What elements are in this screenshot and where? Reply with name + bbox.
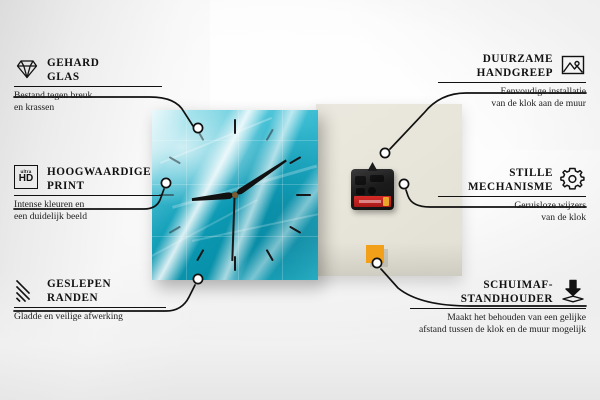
feature-subtitle: Geruisloze wijzers van de klok <box>438 200 586 223</box>
feature-header: GESLEPEN RANDEN <box>14 277 174 305</box>
feature-title: GEHARD GLAS <box>47 56 99 84</box>
feature-divider <box>14 195 162 196</box>
beveled-edges-icon <box>14 277 40 303</box>
product-infographic: GEHARD GLAS Bestand tegen breuk en krass… <box>0 0 600 400</box>
feature-hoogwaardige-print: ultra HD HOOGWAARDIGE PRINT Intense kleu… <box>14 165 164 222</box>
clock-battery <box>354 196 391 207</box>
clock-movement[interactable] <box>351 169 394 210</box>
feature-title: DUURZAME HANDGREEP <box>477 52 553 80</box>
feature-duurzame-handgreep: DUURZAME HANDGREEP Eenvoudige installati… <box>438 52 586 109</box>
feature-subtitle: Bestand tegen breuk en krassen <box>14 90 164 113</box>
feature-divider <box>438 196 586 197</box>
movement-detail <box>356 188 365 195</box>
clock-center-cap <box>232 192 238 198</box>
feature-title: STILLE MECHANISME <box>468 166 553 194</box>
glass-wall-clock[interactable] <box>152 110 318 280</box>
feature-geslepen-randen: GESLEPEN RANDEN Gladde en veilige afwerk… <box>14 277 174 323</box>
feature-subtitle: Eenvoudige installatie van de klok aan d… <box>438 86 586 109</box>
feature-subtitle: Gladde en veilige afwerking <box>14 311 174 323</box>
feature-divider <box>438 82 586 83</box>
feature-title: HOOGWAARDIGE PRINT <box>47 165 151 193</box>
feature-divider <box>410 308 586 309</box>
feature-subtitle: Maakt het behouden van een gelijke afsta… <box>410 312 586 335</box>
feature-gehard-glas: GEHARD GLAS Bestand tegen breuk en krass… <box>14 56 164 113</box>
feature-divider <box>14 86 162 87</box>
feature-header: SCHUIMAF- STANDHOUDER <box>410 278 586 306</box>
feature-header: DUURZAME HANDGREEP <box>438 52 586 80</box>
ultra-hd-large-text: HD <box>19 174 33 184</box>
download-stand-icon <box>560 278 586 304</box>
feature-stille-mechanisme: STILLE MECHANISME Geruisloze wijzers van… <box>438 166 586 223</box>
wall-panel-shadow <box>316 242 462 276</box>
feature-header: ultra HD HOOGWAARDIGE PRINT <box>14 165 164 193</box>
feature-title: SCHUIMAF- STANDHOUDER <box>461 278 553 306</box>
movement-detail <box>370 175 384 182</box>
picture-frame-icon <box>560 52 586 78</box>
feature-divider <box>14 307 166 308</box>
feature-subtitle: Intense kleuren en een duidelijk beeld <box>14 199 164 222</box>
feature-schuimaf-standhouder: SCHUIMAF- STANDHOUDER Maakt het behouden… <box>410 278 586 335</box>
clock-tick-12 <box>234 119 236 195</box>
gear-icon <box>560 166 586 192</box>
foam-spacer-pad[interactable] <box>366 245 384 263</box>
feature-header: GEHARD GLAS <box>14 56 164 84</box>
diamond-icon <box>14 56 40 82</box>
ultra-hd-icon: ultra HD <box>14 165 40 191</box>
battery-plus-terminal <box>383 197 389 206</box>
feature-header: STILLE MECHANISME <box>438 166 586 194</box>
clock-tick-3 <box>235 194 311 196</box>
ultra-hd-badge: ultra HD <box>14 165 38 189</box>
movement-detail <box>368 187 376 195</box>
movement-detail <box>355 176 366 185</box>
feature-title: GESLEPEN RANDEN <box>47 277 111 305</box>
battery-band <box>359 200 381 203</box>
